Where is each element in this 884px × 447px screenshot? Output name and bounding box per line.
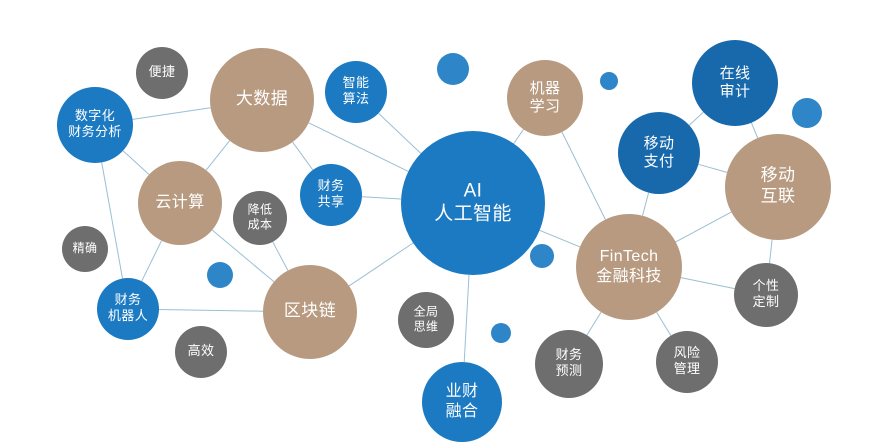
decorative-dot-dot6: [491, 323, 511, 343]
bubble-node-jingque[interactable]: 精确: [62, 226, 108, 272]
node-circle[interactable]: [62, 226, 108, 272]
edge-yidonghulian-to-gexingdingzhi: [770, 240, 773, 264]
edge-shuzihua-to-caiwujiqiren: [102, 162, 123, 278]
node-circle[interactable]: [535, 330, 603, 398]
bubble-node-qukuailian[interactable]: 区块链: [263, 265, 357, 359]
decorative-dot-dot1: [437, 53, 469, 85]
edge-dashuju-to-ai: [309, 123, 409, 172]
edge-yidongzhifu-to-yidonghulian: [698, 164, 727, 172]
bubble-node-dashuju[interactable]: 大数据: [210, 48, 314, 152]
node-circle[interactable]: [57, 87, 133, 163]
edge-shuzihua-to-yunjisuan: [123, 151, 149, 175]
bubble-node-yecaironghe[interactable]: 业财融合: [422, 362, 502, 442]
node-circle[interactable]: [725, 134, 831, 240]
dot-circle: [207, 262, 233, 288]
node-circle[interactable]: [656, 331, 718, 393]
node-circle[interactable]: [325, 61, 387, 123]
bubble-node-jiqixuexi[interactable]: 机器学习: [507, 60, 583, 136]
edge-fintech-to-fengxianguanli: [657, 312, 671, 335]
edge-shuzihua-to-dashuju: [133, 108, 211, 120]
bubble-node-jiangdichengben[interactable]: 降低成本: [233, 191, 287, 245]
bubble-node-caiwugongxiang[interactable]: 财务共享: [300, 164, 362, 226]
edge-ai-to-yecaironghe: [464, 275, 469, 362]
bubble-node-yidonghulian[interactable]: 移动互联: [725, 134, 831, 240]
bubble-node-bianjie[interactable]: 便捷: [136, 47, 188, 99]
decorative-dot-dot3: [792, 98, 822, 128]
node-circle[interactable]: [175, 326, 227, 378]
edge-fintech-to-caiwuyuce: [587, 312, 601, 335]
dot-circle: [600, 72, 618, 90]
bubble-node-yidongzhifu[interactable]: 移动支付: [618, 112, 700, 194]
bubble-node-gaoxiao[interactable]: 高效: [175, 326, 227, 378]
bubble-node-caiwujiqiren[interactable]: 财务机器人: [97, 278, 159, 340]
bubble-node-quanjusiwei[interactable]: 全局思维: [398, 292, 454, 348]
edge-caiwugongxiang-to-ai: [362, 197, 401, 199]
node-circle[interactable]: [401, 131, 545, 275]
node-circle[interactable]: [210, 48, 314, 152]
edge-caiwujiqiren-to-qukuailian: [159, 310, 263, 312]
node-circle[interactable]: [300, 164, 362, 226]
bubble-node-shuzihua[interactable]: 数字化财务分析: [57, 87, 133, 163]
node-circle[interactable]: [138, 161, 222, 245]
edge-fintech-to-gexingdingzhi: [681, 278, 735, 289]
node-circle[interactable]: [136, 47, 188, 99]
edge-jiqixuexi-to-fintech: [562, 132, 606, 220]
node-circle[interactable]: [576, 214, 682, 320]
edge-dashuju-to-caiwugongxiang: [293, 142, 313, 170]
bubble-node-fintech[interactable]: FinTech金融科技: [576, 214, 682, 320]
edge-yidongzhifu-to-zaixianshenji: [689, 112, 703, 125]
edge-fintech-to-yidonghulian: [676, 212, 732, 242]
dot-circle: [437, 53, 469, 85]
bubble-network-svg: 便捷数字化财务分析大数据智能算法机器学习在线审计移动支付移动互联云计算降低成本财…: [0, 0, 884, 447]
bubble-node-caiwuyuce[interactable]: 财务预测: [535, 330, 603, 398]
edge-qukuailian-to-ai: [349, 243, 413, 286]
node-circle[interactable]: [233, 191, 287, 245]
bubble-node-ai[interactable]: AI人工智能: [401, 131, 545, 275]
node-circle[interactable]: [618, 112, 700, 194]
bubble-node-yunjisuan[interactable]: 云计算: [138, 161, 222, 245]
node-circle[interactable]: [692, 40, 778, 126]
dot-circle: [491, 323, 511, 343]
dot-circle: [792, 98, 822, 128]
decorative-dot-dot2: [600, 72, 618, 90]
bubble-node-fengxianguanli[interactable]: 风险管理: [656, 331, 718, 393]
diagram-canvas: 便捷数字化财务分析大数据智能算法机器学习在线审计移动支付移动互联云计算降低成本财…: [0, 0, 884, 447]
bubble-node-zhinengsuanfa[interactable]: 智能算法: [325, 61, 387, 123]
decorative-dot-dot4: [530, 244, 554, 268]
edge-yunjisuan-to-caiwujiqiren: [142, 241, 162, 282]
dot-circle: [530, 244, 554, 268]
edge-zaixianshenji-to-yidonghulian: [751, 123, 757, 138]
edge-zhinengsuanfa-to-ai: [379, 113, 421, 153]
node-circle[interactable]: [507, 60, 583, 136]
node-circle[interactable]: [734, 263, 798, 327]
node-circle[interactable]: [398, 292, 454, 348]
bubble-node-gexingdingzhi[interactable]: 个性定制: [734, 263, 798, 327]
nodes-layer: 便捷数字化财务分析大数据智能算法机器学习在线审计移动支付移动互联云计算降低成本财…: [57, 40, 831, 442]
edge-dashuju-to-yunjisuan: [206, 141, 229, 170]
edge-yidongzhifu-to-fintech: [643, 193, 649, 216]
edge-ai-to-jiqixuexi: [514, 129, 524, 143]
node-circle[interactable]: [97, 278, 159, 340]
edge-jiangdichengben-to-qukuailian: [273, 242, 288, 271]
decorative-dot-dot5: [207, 262, 233, 288]
node-circle[interactable]: [422, 362, 502, 442]
node-circle[interactable]: [263, 265, 357, 359]
edge-ai-to-fintech: [540, 230, 580, 247]
bubble-node-zaixianshenji[interactable]: 在线审计: [692, 40, 778, 126]
